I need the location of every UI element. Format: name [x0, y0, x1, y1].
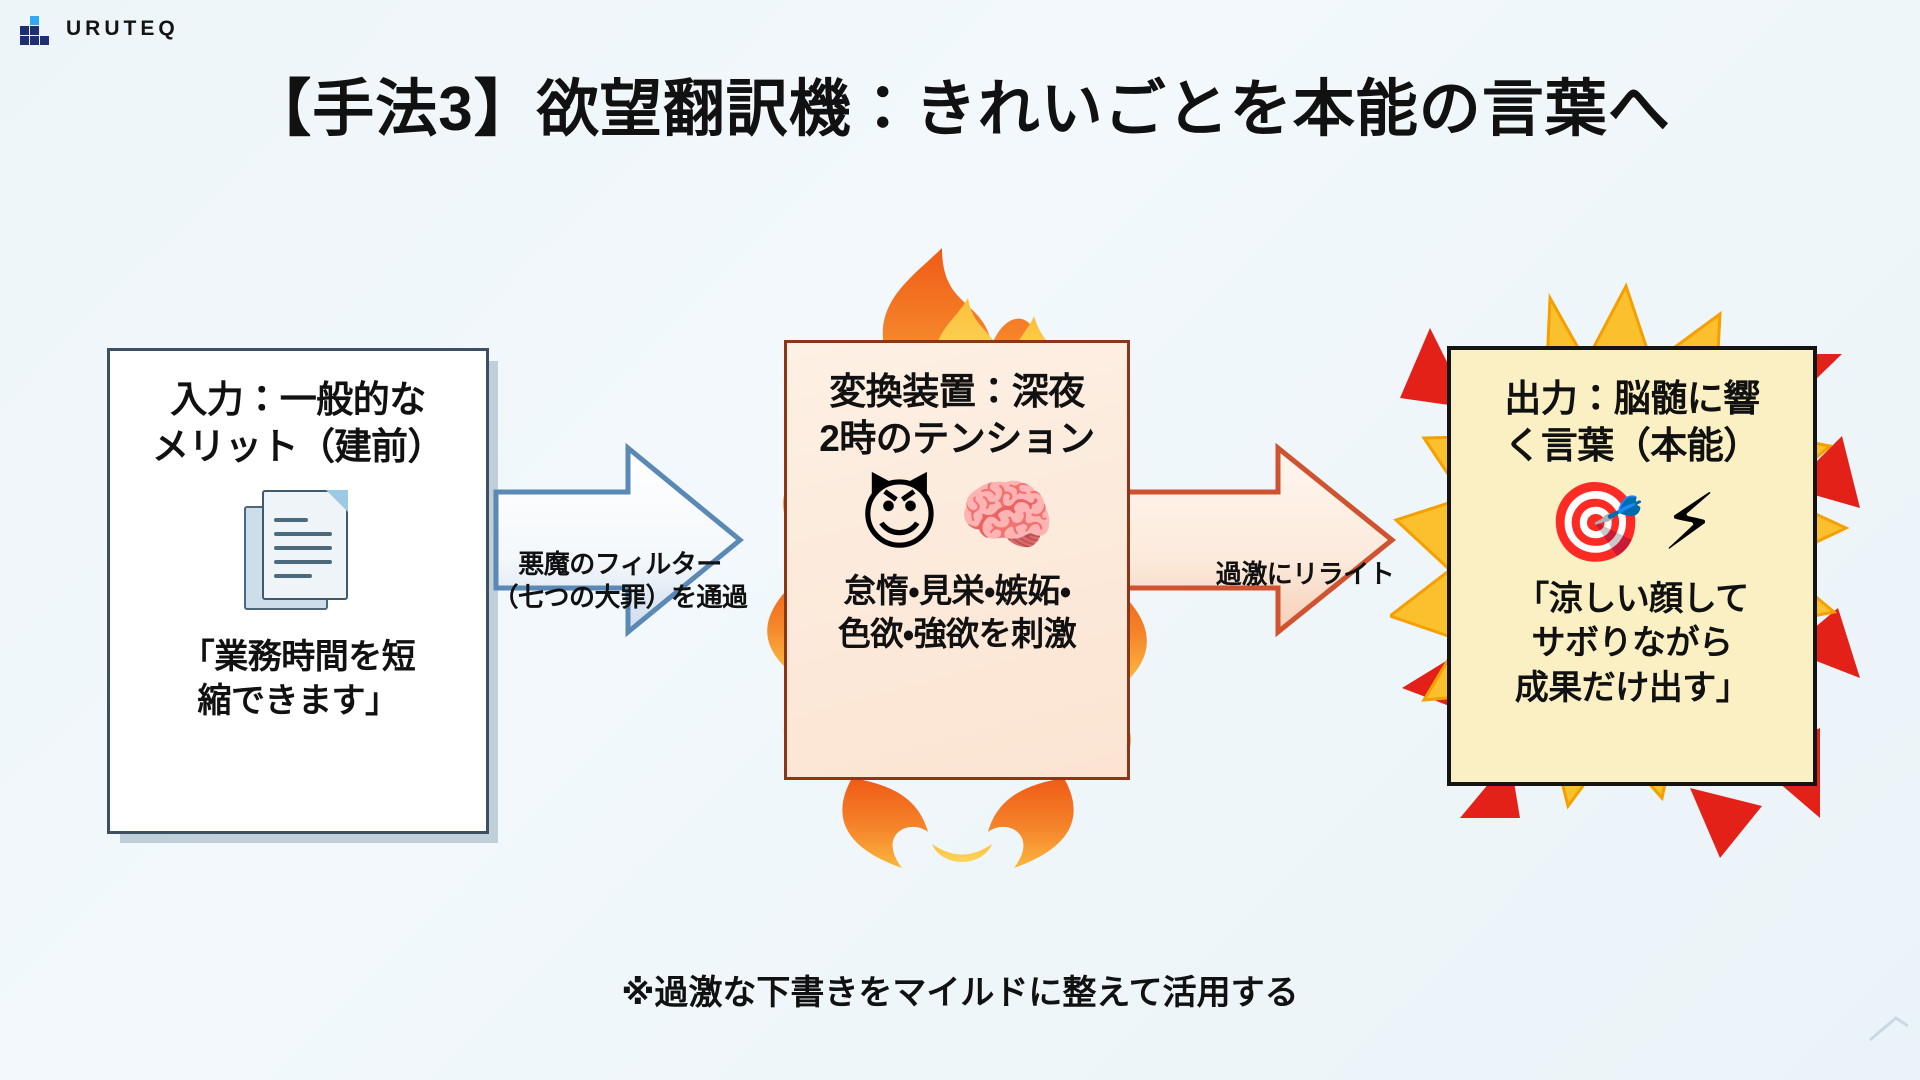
arrow-1-label: 悪魔のフィルター （七つの大罪）を通過 — [470, 548, 770, 613]
transform-heading: 変換装置：深夜 2時のテンション — [819, 369, 1095, 462]
transform-icon-row: 😈 🧠 — [859, 476, 1055, 554]
lightning-bolt-icon: ⚡ — [1662, 483, 1717, 561]
corner-decoration-icon — [1866, 1014, 1912, 1044]
output-heading: 出力：脳髄に響 く言葉（本能） — [1504, 376, 1760, 469]
devil-face-icon: 😈 — [859, 476, 940, 554]
output-quote: 「涼しい顔して サボりながら 成果だけ出す」 — [1515, 577, 1750, 710]
target-dart-icon: 🎯 — [1547, 483, 1644, 561]
arrow-2-label: 過激にリライト — [1160, 558, 1450, 591]
step-card-output[interactable]: 出力：脳髄に響 く言葉（本能） 🎯 ⚡ 「涼しい顔して サボりながら 成果だけ出… — [1447, 346, 1817, 786]
document-pages-icon — [244, 490, 352, 610]
step-card-transform-wrapper: 変換装置：深夜 2時のテンション 😈 🧠 怠惰・見栄・嫉妬・ 色欲・強欲を刺激 — [742, 248, 1172, 873]
block-arrow-right-icon-2 — [1100, 440, 1400, 640]
footnote-text: ※過激な下書きをマイルドに整えて活用する — [0, 965, 1920, 1014]
step-card-transform[interactable]: 変換装置：深夜 2時のテンション 😈 🧠 怠惰・見栄・嫉妬・ 色欲・強欲を刺激 — [784, 340, 1130, 780]
diagram-canvas: 入力：一般的な メリット（建前） 「業務時間を短 縮できます」 — [0, 0, 1920, 1080]
input-heading: 入力：一般的な メリット（建前） — [152, 377, 444, 470]
step-card-output-wrapper: 出力：脳髄に響 く言葉（本能） 🎯 ⚡ 「涼しい顔して サボりながら 成果だけ出… — [1390, 258, 1880, 878]
output-icon-row: 🎯 ⚡ — [1547, 483, 1717, 561]
input-quote: 「業務時間を短 縮できます」 — [181, 636, 416, 723]
transform-subtext: 怠惰・見栄・嫉妬・ 色欲・強欲を刺激 — [838, 570, 1076, 656]
step-card-input[interactable]: 入力：一般的な メリット（建前） 「業務時間を短 縮できます」 — [107, 348, 489, 834]
brain-on-fire-icon: 🧠 — [958, 476, 1055, 554]
